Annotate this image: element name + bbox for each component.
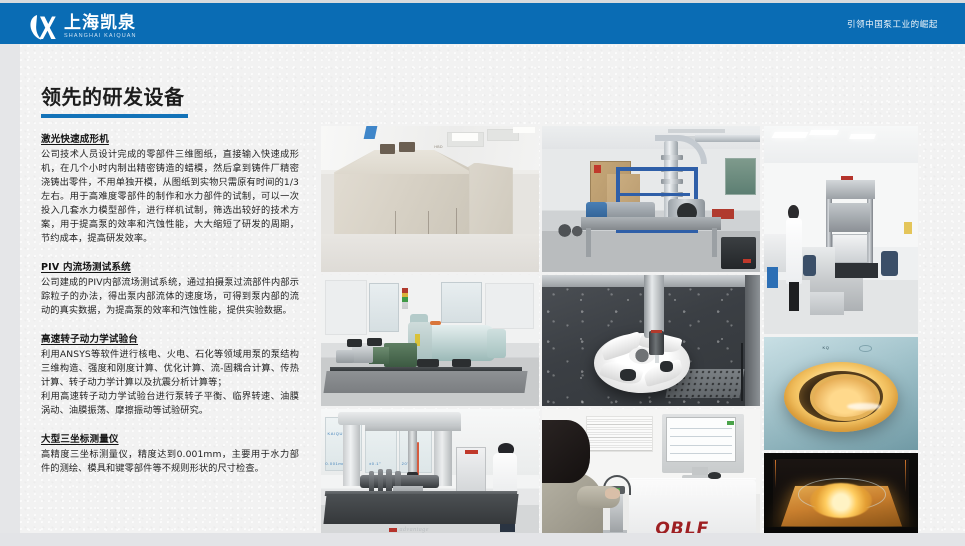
section-body: 公司技术人员设计完成的零部件三维图纸，直接输入快速成形机，在几个小时内制出精密铸… <box>41 148 299 246</box>
page-body: 领先的研发设备 激光快速成形机 公司技术人员设计完成的零部件三维图纸，直接输入快… <box>0 44 965 533</box>
text-column: 领先的研发设备 激光快速成形机 公司技术人员设计完成的零部件三维图纸，直接输入快… <box>41 86 299 489</box>
photo-laser-prototyping-machine: HBD <box>321 126 539 272</box>
section-heading: 激光快速成形机 <box>41 131 299 145</box>
section-laser-prototyping: 激光快速成形机 公司技术人员设计完成的零部件三维图纸，直接输入快速成形机，在几个… <box>41 131 299 246</box>
bottom-edge-strip <box>0 533 965 546</box>
section-body: 高精度三坐标测量仪，精度达到0.001mm，主要用于水力部件的测绘、模具和键零部… <box>41 448 299 476</box>
photo-large-cmm-shaft: KAIQUAN 0.001mm ±0.1° 20°C <box>321 409 539 546</box>
section-heading: 高速转子动力学试验台 <box>41 331 299 345</box>
logo-chinese-name: 上海凯泉 <box>64 15 137 32</box>
section-body: 利用ANSYS等软件进行核电、火电、石化等领域用泵的泵结构三维构造、强度和刚度计… <box>41 348 299 418</box>
photo-rotor-dynamics-test-bench <box>321 275 539 406</box>
photo-universal-testing-machine <box>764 126 918 334</box>
section-piv-flow-test: PIV 内流场测试系统 公司建成的PIV内部流场测试系统，通过拍摄泵过流部件内部… <box>41 259 299 318</box>
header-tagline: 引领中国泵工业的崛起 <box>847 3 938 44</box>
header-bar: 上海凯泉 SHANGHAI KAIQUAN 引领中国泵工业的崛起 <box>0 3 965 44</box>
kaiquan-kx-monogram-icon <box>26 12 57 42</box>
title-underline-rule <box>41 114 188 118</box>
section-rotor-dynamics-bench: 高速转子动力学试验台 利用ANSYS等软件进行核电、火电、石化等领域用泵的泵结构… <box>41 331 299 418</box>
logo-english-name: SHANGHAI KAIQUAN <box>64 34 137 40</box>
photo-glowing-ring-inspection: KQ <box>764 337 918 450</box>
page-title: 领先的研发设备 <box>41 86 299 108</box>
cmm-brand-text: advantage <box>399 527 429 533</box>
slide-root: 上海凯泉 SHANGHAI KAIQUAN 引领中国泵工业的崛起 领先的研发设备… <box>0 0 965 546</box>
section-heading: PIV 内流场测试系统 <box>41 259 299 273</box>
photo-oblf-spectrometer: OBLF <box>542 409 760 546</box>
section-heading: 大型三坐标测量仪 <box>41 431 299 445</box>
photo-grid: HBD <box>321 126 918 546</box>
brand-logo[interactable]: 上海凯泉 SHANGHAI KAIQUAN <box>26 11 137 43</box>
photo-pipe-test-rig <box>542 126 760 272</box>
section-body: 公司建成的PIV内部流场测试系统，通过拍摄泵过流部件内部示踪粒子的办法，得出泵内… <box>41 276 299 318</box>
photo-overlay-label: KQ <box>823 345 830 350</box>
photo-cmm-probe-impeller <box>542 275 760 406</box>
section-cmm: 大型三坐标测量仪 高精度三坐标测量仪，精度达到0.001mm，主要用于水力部件的… <box>41 431 299 476</box>
